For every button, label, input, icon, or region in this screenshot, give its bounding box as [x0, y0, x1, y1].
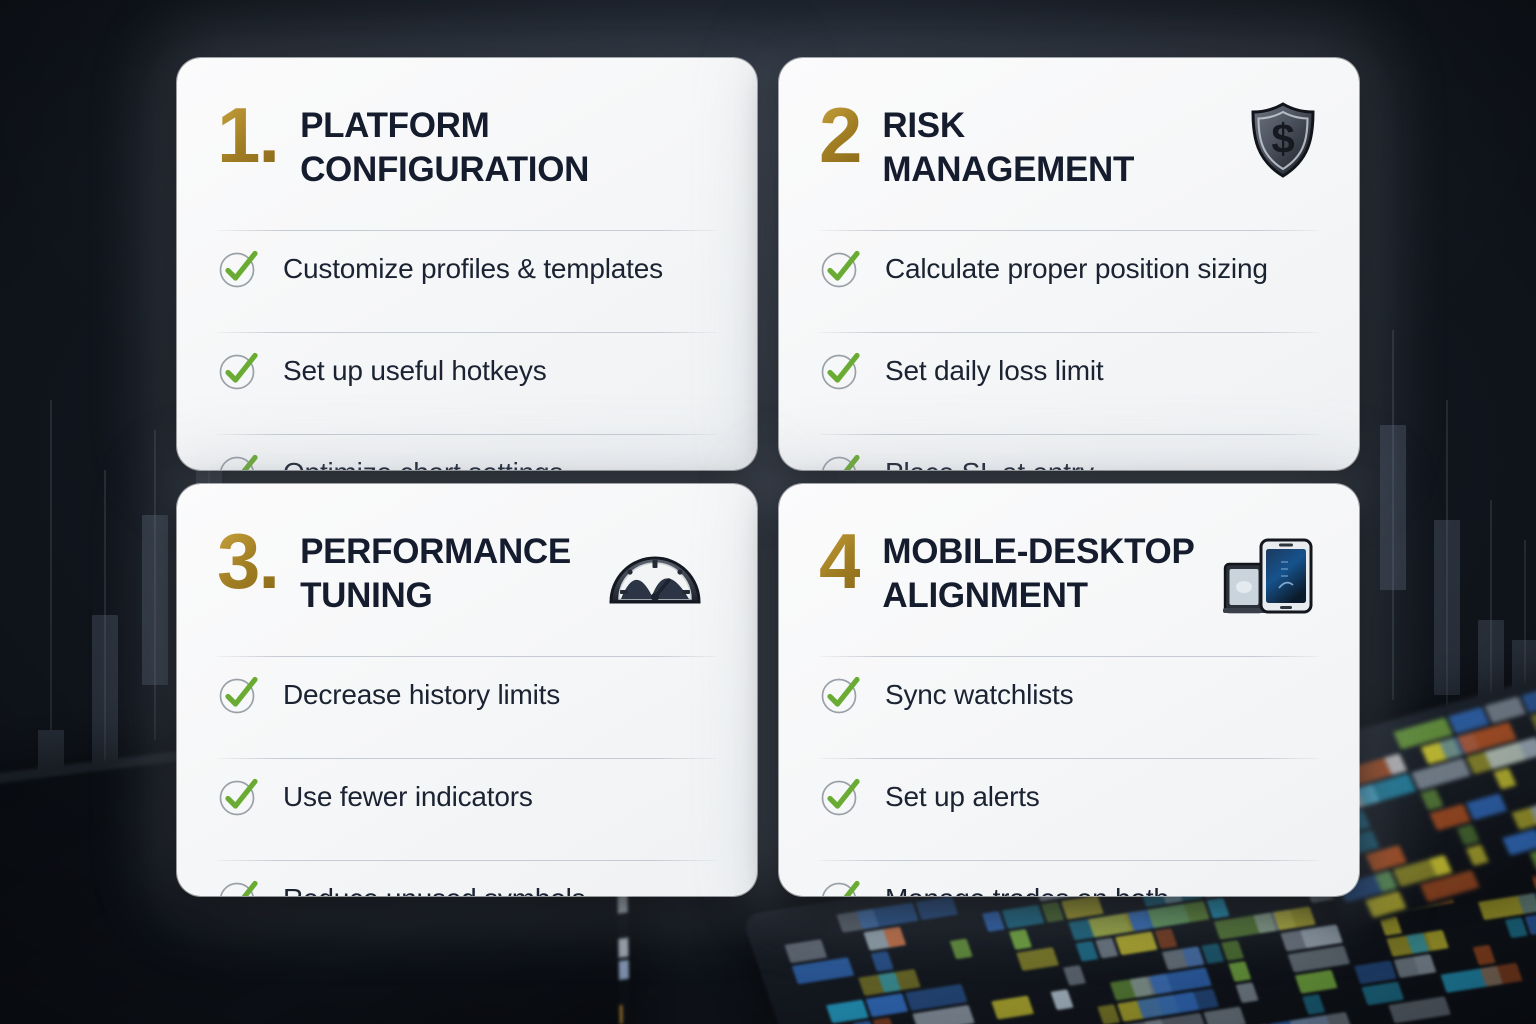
- shield-dollar-icon: $: [1241, 98, 1325, 182]
- list-item-label: Set daily loss limit: [885, 354, 1104, 388]
- list-item[interactable]: Decrease history limits: [217, 657, 717, 732]
- card-number: 1.: [217, 100, 278, 169]
- list-item[interactable]: Optimize chart settings: [217, 435, 717, 470]
- card-title: PLATFORM CONFIGURATION: [300, 100, 640, 193]
- card-risk-management[interactable]: 2 RISK MANAGEMENT $: [779, 58, 1359, 470]
- svg-text:$: $: [1271, 115, 1294, 162]
- card-header: 3. PERFORMANCE TUNING: [217, 526, 717, 630]
- check-circle-icon: [819, 775, 863, 819]
- checklist-items: Sync watchlists Set up alerts: [819, 657, 1319, 896]
- card-platform-configuration[interactable]: 1. PLATFORM CONFIGURATION Customize prof…: [177, 58, 757, 470]
- check-circle-icon: [217, 247, 261, 291]
- list-item[interactable]: Customize profiles & templates: [217, 231, 717, 306]
- check-circle-icon: [217, 775, 261, 819]
- card-title: RISK MANAGEMENT: [882, 100, 1222, 193]
- check-circle-icon: [819, 877, 863, 897]
- check-circle-icon: [217, 349, 261, 393]
- list-item[interactable]: Place SL at entry: [819, 435, 1319, 470]
- list-item-label: Set up alerts: [885, 780, 1040, 814]
- devices-icon: [1223, 536, 1315, 616]
- card-header: 1. PLATFORM CONFIGURATION: [217, 100, 717, 204]
- checklist-card-grid: 1. PLATFORM CONFIGURATION Customize prof…: [177, 58, 1359, 896]
- list-item[interactable]: Use fewer indicators: [217, 759, 717, 834]
- checklist-items: Customize profiles & templates Set up us…: [217, 231, 717, 470]
- card-number: 2: [819, 100, 860, 169]
- list-item[interactable]: Set daily loss limit: [819, 333, 1319, 408]
- list-item-label: Sync watchlists: [885, 678, 1073, 712]
- list-item[interactable]: Sync watchlists: [819, 657, 1319, 732]
- list-item-label: Place SL at entry: [885, 456, 1094, 470]
- list-item[interactable]: Calculate proper position sizing: [819, 231, 1319, 306]
- list-item-label: Decrease history limits: [283, 678, 560, 712]
- list-item-label: Reduce unused symbols: [283, 882, 585, 896]
- list-item-label: Use fewer indicators: [283, 780, 533, 814]
- list-item[interactable]: Set up alerts: [819, 759, 1319, 834]
- check-circle-icon: [819, 451, 863, 471]
- gauge-icon: [607, 540, 703, 610]
- list-item-label: Optimize chart settings: [283, 456, 563, 470]
- list-item-label: Calculate proper position sizing: [885, 252, 1268, 286]
- card-mobile-desktop-alignment[interactable]: 4 MOBILE-DESKTOP ALIGNMENT: [779, 484, 1359, 896]
- check-circle-icon: [819, 349, 863, 393]
- list-item[interactable]: Set up useful hotkeys: [217, 333, 717, 408]
- card-number: 3.: [217, 526, 278, 595]
- checklist-items: Calculate proper position sizing Set dai…: [819, 231, 1319, 470]
- card-performance-tuning[interactable]: 3. PERFORMANCE TUNING: [177, 484, 757, 896]
- card-header: 2 RISK MANAGEMENT $: [819, 100, 1319, 204]
- list-item-label: Set up useful hotkeys: [283, 354, 547, 388]
- list-item-label: Customize profiles & templates: [283, 252, 663, 286]
- check-circle-icon: [217, 451, 261, 471]
- card-number: 4: [819, 526, 860, 595]
- check-circle-icon: [819, 247, 863, 291]
- check-circle-icon: [217, 877, 261, 897]
- check-circle-icon: [217, 673, 261, 717]
- check-circle-icon: [819, 673, 863, 717]
- card-title: PERFORMANCE TUNING: [300, 526, 640, 619]
- card-title: MOBILE-DESKTOP ALIGNMENT: [882, 526, 1222, 619]
- list-item[interactable]: Manage trades on both: [819, 861, 1319, 896]
- list-item[interactable]: Reduce unused symbols: [217, 861, 717, 896]
- checklist-items: Decrease history limits Use fewer indica…: [217, 657, 717, 896]
- list-item-label: Manage trades on both: [885, 882, 1169, 896]
- card-header: 4 MOBILE-DESKTOP ALIGNMENT: [819, 526, 1319, 630]
